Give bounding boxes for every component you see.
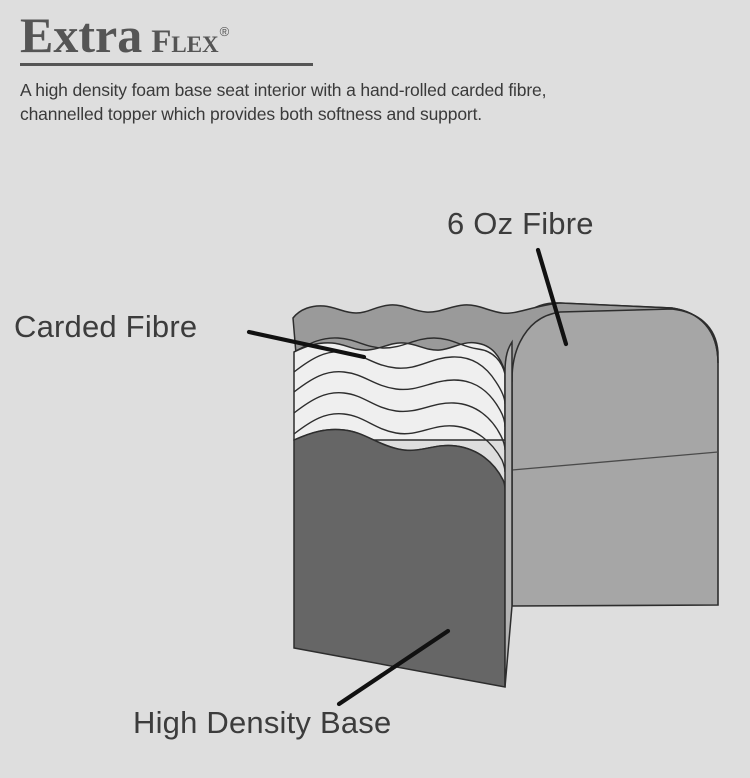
- corner-edge-strip: [505, 342, 512, 687]
- page-root: ExtraFlex® A high density foam base seat…: [0, 0, 750, 778]
- high-density-base-face: [294, 429, 505, 687]
- callout-label-carded-fibre: Carded Fibre: [14, 309, 197, 345]
- callout-label-top-fibre: 6 Oz Fibre: [447, 206, 594, 242]
- carded-fibre-cut-face: [294, 343, 505, 440]
- callout-label-high-density-base: High Density Base: [133, 705, 391, 741]
- seat-interior-cutaway-diagram: [0, 0, 750, 778]
